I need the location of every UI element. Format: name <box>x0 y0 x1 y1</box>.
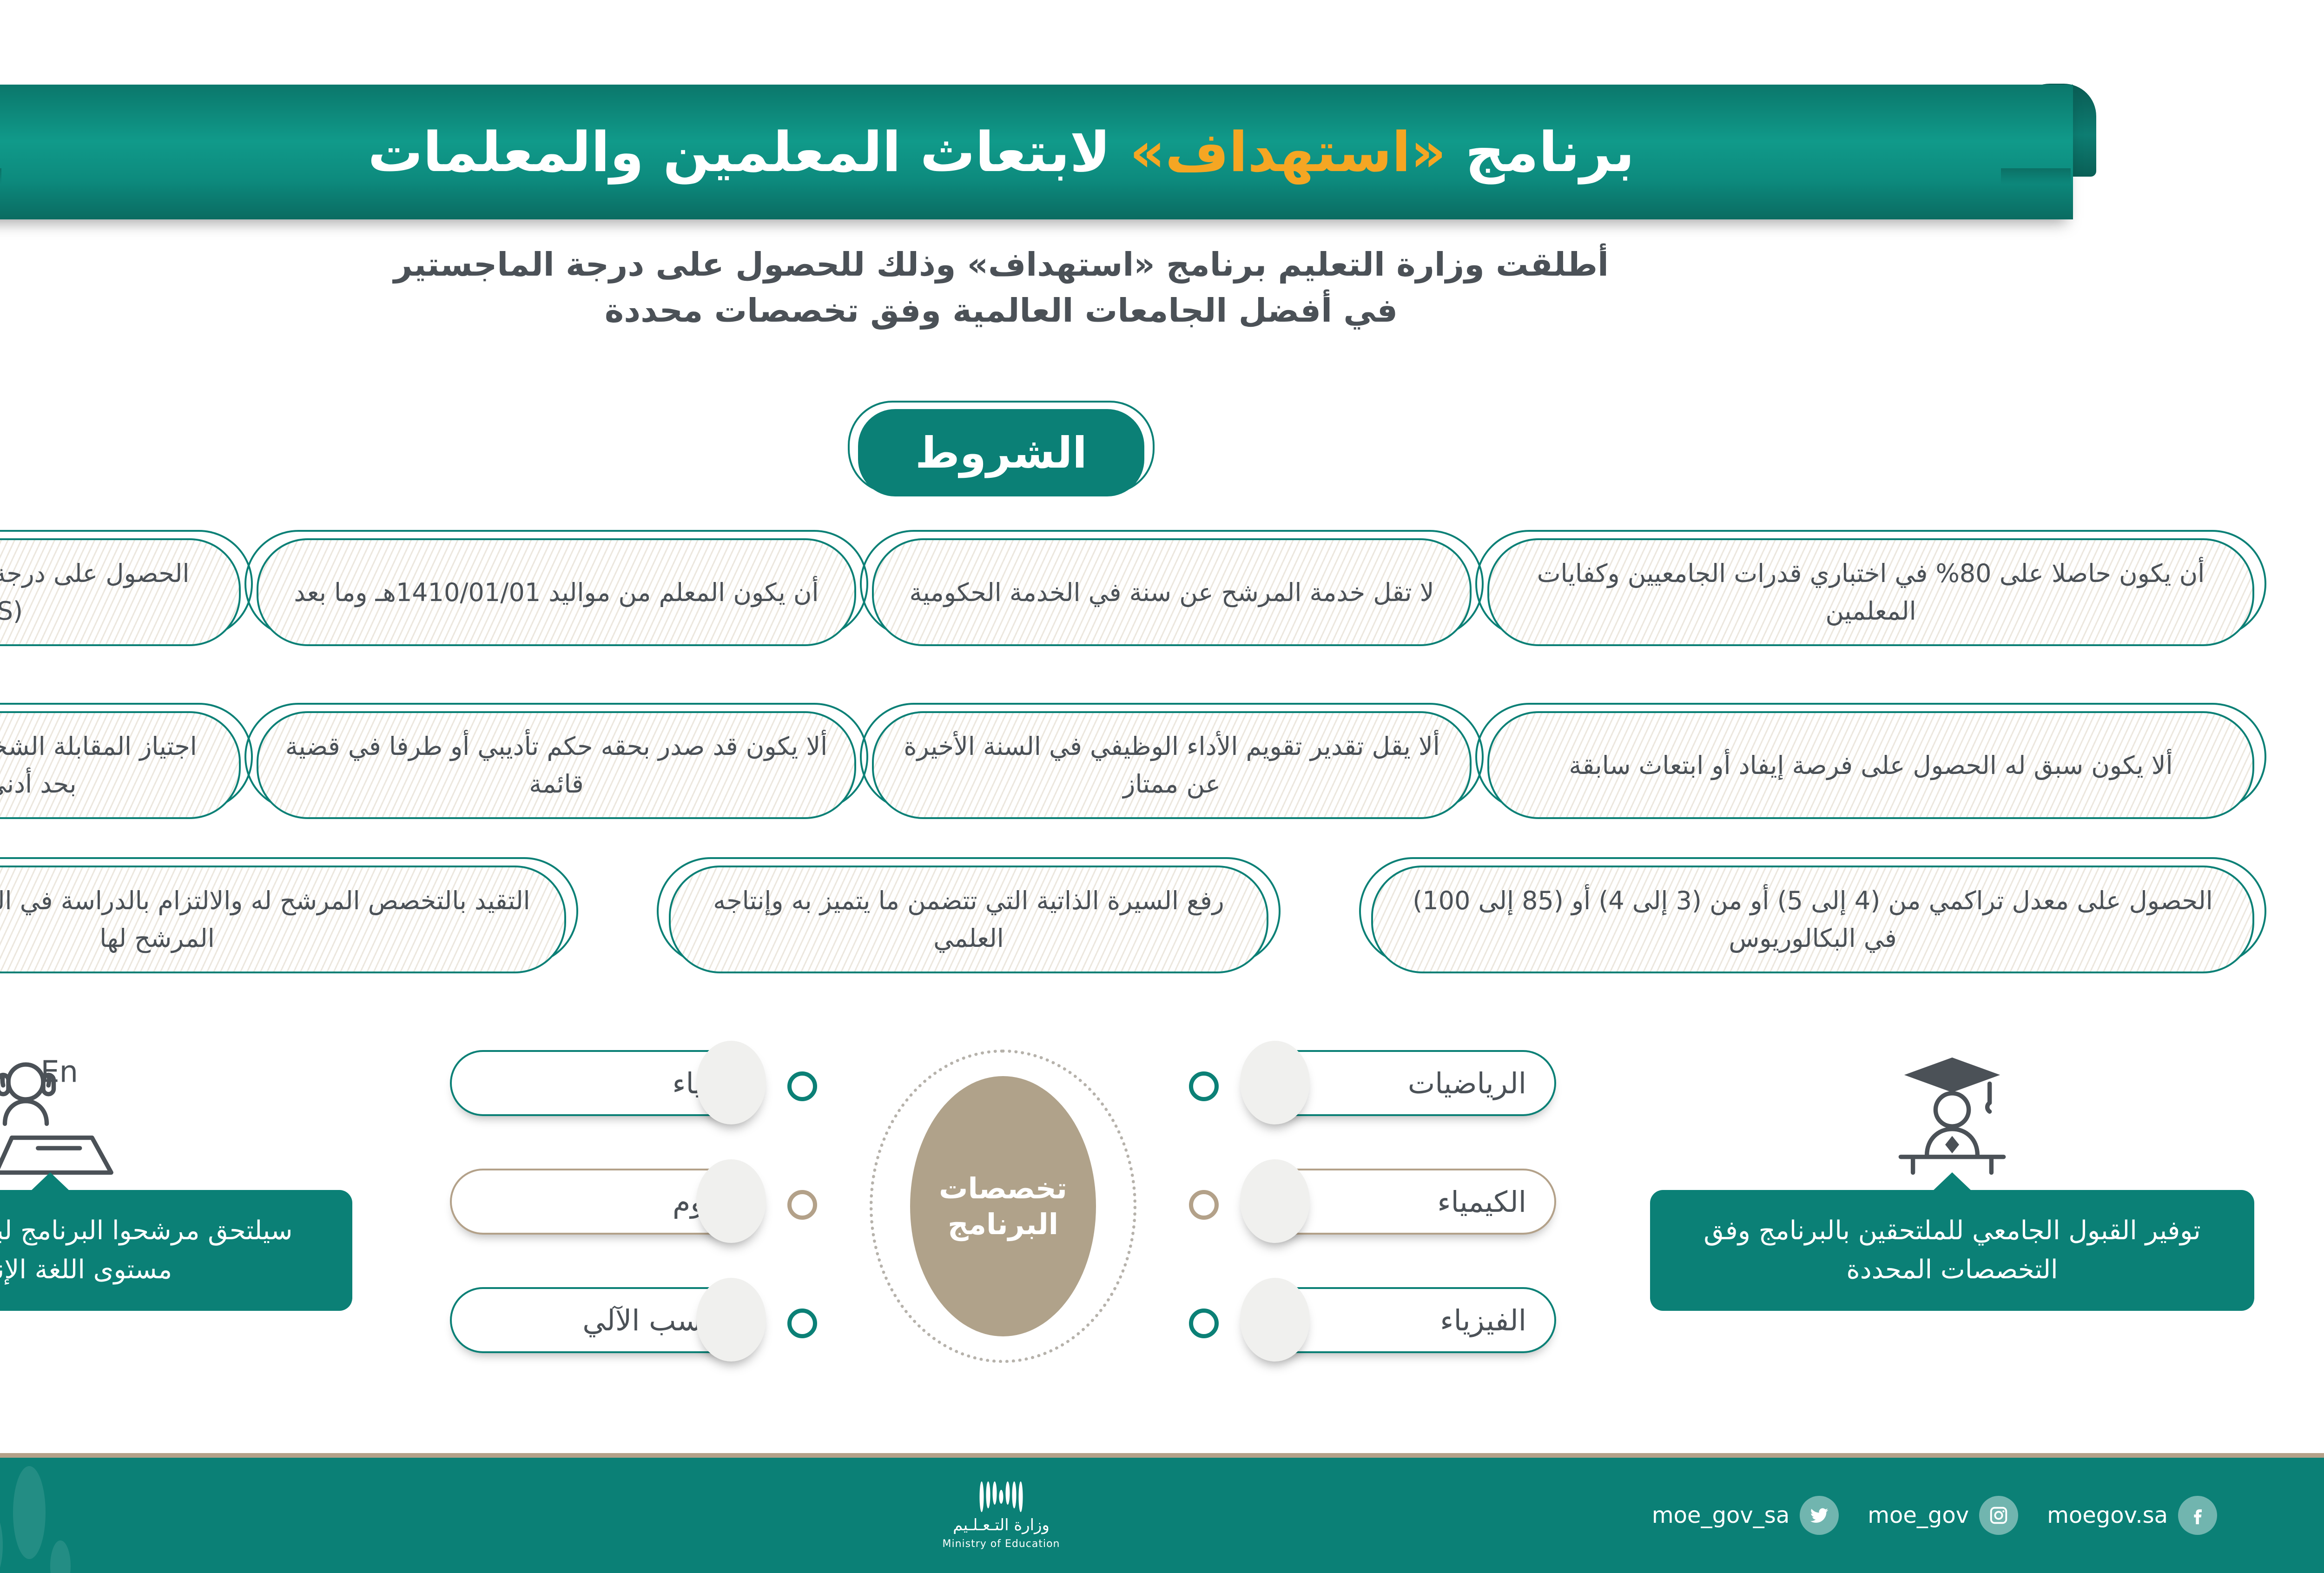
english-callout-text: سيلتحق مرشحوا البرنامج لبرنامج مكثف لرفع… <box>0 1211 332 1289</box>
english-programme-block: En سيلتحق مرشحوا البرنامج لبرنامج مكثف ل… <box>0 1037 352 1311</box>
pill-body: الحصول على درجة (4) فأعلى في اختبار (IEL… <box>0 538 241 646</box>
specialization-item-physics[interactable]: الفيزياء <box>1259 1285 1556 1355</box>
instagram-icon <box>1979 1496 2018 1535</box>
condition-text: ألا يكون قد صدر بحقه حكم تأديبي أو طرفا … <box>284 727 829 803</box>
instagram-link[interactable]: moe_gov <box>1868 1496 2018 1535</box>
title-suffix: لابتعاث المعلمين والمعلمات <box>368 120 1129 184</box>
specialization-item-biology[interactable]: الأحياء <box>450 1048 747 1118</box>
condition-pill: لا تقل خدمة المرشح عن سنة في الخدمة الحك… <box>872 538 1472 646</box>
social-links: moegov.sa moe_gov moe_gov_sa <box>1652 1496 2217 1535</box>
condition-pill: اجتياز المقابلة الشخصية في ديوان الوزارة… <box>0 711 241 819</box>
pill-body: ألا يقل تقدير تقويم الأداء الوظيفي في ال… <box>872 711 1472 819</box>
condition-text: الحصول على معدل تراكمي من (4 إلى 5) أو م… <box>1398 882 2227 957</box>
twitter-link[interactable]: moe_gov_sa <box>1652 1496 1839 1535</box>
ministry-logo: وزارة التـعـلـيم Ministry of Education <box>942 1481 1060 1550</box>
condition-text: التقيد بالتخصص المرشح له والالتزام بالدر… <box>0 882 539 957</box>
instagram-handle: moe_gov <box>1868 1502 1969 1528</box>
condition-text: ألا يكون سبق له الحصول على فرصة إيفاد أو… <box>1569 747 2172 784</box>
center-line-1: تخصصات <box>939 1170 1067 1207</box>
condition-pill: التقيد بالتخصص المرشح له والالتزام بالدر… <box>0 866 566 973</box>
facebook-icon <box>2178 1496 2217 1535</box>
condition-text: اجتياز المقابلة الشخصية في ديوان الوزارة… <box>0 727 214 803</box>
facebook-link[interactable]: moegov.sa <box>2047 1496 2217 1535</box>
connector-knob-icon <box>787 1190 817 1220</box>
subtitle: أطلقت وزارة التعليم برنامج «استهداف» وذل… <box>0 242 2324 334</box>
graduate-icon <box>1650 1037 2254 1190</box>
pill-body: أن يكون حاصلا على 80% في اختباري قدرات ا… <box>1487 538 2254 646</box>
twitter-icon <box>1800 1496 1839 1535</box>
connector-knob-icon <box>1189 1309 1219 1338</box>
badge-fill: الشروط <box>858 409 1144 496</box>
pill-body: ألا يكون سبق له الحصول على فرصة إيفاد أو… <box>1487 711 2254 819</box>
online-learning-icon: En <box>0 1037 352 1190</box>
title-ribbon: برنامج «استهداف» لابتعاث المعلمين والمعل… <box>0 70 2324 223</box>
conditions-row-3: الحصول على معدل تراكمي من (4 إلى 5) أو م… <box>0 866 2254 973</box>
pill-body: رفع السيرة الذاتية التي تتضمن ما يتميز ب… <box>669 866 1268 973</box>
condition-text: أن يكون حاصلا على 80% في اختباري قدرات ا… <box>1514 555 2227 630</box>
facebook-handle: moegov.sa <box>2047 1502 2168 1528</box>
title-highlight: «استهداف» <box>1129 120 1446 184</box>
condition-text: لا تقل خدمة المرشح عن سنة في الخدمة الحك… <box>910 574 1434 611</box>
conditions-row-2: ألا يكون سبق له الحصول على فرصة إيفاد أو… <box>0 711 2254 819</box>
condition-text: رفع السيرة الذاتية التي تتضمن ما يتميز ب… <box>696 882 1241 957</box>
bubble-icon <box>696 1041 766 1124</box>
pill-body: ألا يكون قد صدر بحقه حكم تأديبي أو طرفا … <box>257 711 856 819</box>
admission-callout-text: توفير القبول الجامعي للملتحقين بالبرنامج… <box>1670 1211 2234 1289</box>
condition-pill: ألا يقل تقدير تقويم الأداء الوظيفي في ال… <box>872 711 1472 819</box>
subtitle-line-2: في أفضل الجامعات العالمية وفق تخصصات محد… <box>0 288 2324 334</box>
bubble-icon <box>1240 1159 1310 1243</box>
ministry-name-en: Ministry of Education <box>942 1538 1060 1550</box>
connector-knob-icon <box>787 1071 817 1101</box>
condition-text: أن يكون المعلم من مواليد 1410/01/01هـ وم… <box>294 574 819 611</box>
conditions-row-1: أن يكون حاصلا على 80% في اختباري قدرات ا… <box>0 538 2254 646</box>
footer-bar: moegov.sa moe_gov moe_gov_sa وزارة التـع… <box>0 1458 2324 1573</box>
footer-divider <box>0 1453 2324 1458</box>
specialization-item-chemistry[interactable]: الكيمياء <box>1259 1167 1556 1236</box>
ministry-name-ar: وزارة التـعـلـيم <box>953 1516 1050 1534</box>
pill-body: اجتياز المقابلة الشخصية في ديوان الوزارة… <box>0 711 241 819</box>
pill-body: الحصول على معدل تراكمي من (4 إلى 5) أو م… <box>1371 866 2254 973</box>
connector-knob-icon <box>1189 1190 1219 1220</box>
bubble-icon <box>696 1159 766 1243</box>
admission-callout: توفير القبول الجامعي للملتحقين بالبرنامج… <box>1650 1190 2254 1311</box>
pill-body: لا تقل خدمة المرشح عن سنة في الخدمة الحك… <box>872 538 1472 646</box>
connector-knob-icon <box>1189 1071 1219 1101</box>
condition-pill: ألا يكون سبق له الحصول على فرصة إيفاد أو… <box>1487 711 2254 819</box>
ministry-mark-icon <box>980 1481 1023 1512</box>
condition-pill: رفع السيرة الذاتية التي تتضمن ما يتميز ب… <box>669 866 1268 973</box>
bubble-icon <box>696 1278 766 1362</box>
bubble-icon <box>1240 1041 1310 1124</box>
condition-text: الحصول على درجة (4) فأعلى في اختبار (IEL… <box>0 555 214 630</box>
connector-knob-icon <box>787 1309 817 1338</box>
footer-decoration <box>0 1458 115 1573</box>
condition-text: ألا يقل تقدير تقويم الأداء الوظيفي في ال… <box>899 727 1445 803</box>
pill-body: التقيد بالتخصص المرشح له والالتزام بالدر… <box>0 866 566 973</box>
condition-pill: الحصول على درجة (4) فأعلى في اختبار (IEL… <box>0 538 241 646</box>
english-callout: سيلتحق مرشحوا البرنامج لبرنامج مكثف لرفع… <box>0 1190 352 1311</box>
title-prefix: برنامج <box>1446 120 1635 184</box>
subtitle-line-1: أطلقت وزارة التعليم برنامج «استهداف» وذل… <box>0 242 2324 288</box>
specialization-item-computer[interactable]: الحاسب الآلي <box>450 1285 747 1355</box>
condition-pill: ألا يكون قد صدر بحقه حكم تأديبي أو طرفا … <box>257 711 856 819</box>
pill-body: أن يكون المعلم من مواليد 1410/01/01هـ وم… <box>257 538 856 646</box>
specializations-diagram: تخصصات البرنامج الرياضيات الكيمياء الفيز… <box>450 1044 1556 1369</box>
specialization-item-science[interactable]: العلوم <box>450 1167 747 1236</box>
ribbon-fold-right <box>2001 168 2071 184</box>
specializations-center: تخصصات البرنامج <box>910 1076 1096 1336</box>
twitter-handle: moe_gov_sa <box>1652 1502 1789 1528</box>
bubble-icon <box>1240 1278 1310 1362</box>
svg-text:En: En <box>40 1055 78 1090</box>
ribbon-fold-left <box>0 168 1 184</box>
center-line-2: البرنامج <box>948 1206 1058 1243</box>
specialization-item-math[interactable]: الرياضيات <box>1259 1048 1556 1118</box>
ribbon-banner: برنامج «استهداف» لابتعاث المعلمين والمعل… <box>0 85 2073 219</box>
admission-block: توفير القبول الجامعي للملتحقين بالبرنامج… <box>1650 1037 2254 1311</box>
badge-label: الشروط <box>915 428 1087 478</box>
conditions-badge: الشروط <box>848 401 1155 494</box>
page-title: برنامج «استهداف» لابتعاث المعلمين والمعل… <box>368 120 1634 184</box>
condition-pill: الحصول على معدل تراكمي من (4 إلى 5) أو م… <box>1371 866 2254 973</box>
condition-pill: أن يكون حاصلا على 80% في اختباري قدرات ا… <box>1487 538 2254 646</box>
condition-pill: أن يكون المعلم من مواليد 1410/01/01هـ وم… <box>257 538 856 646</box>
